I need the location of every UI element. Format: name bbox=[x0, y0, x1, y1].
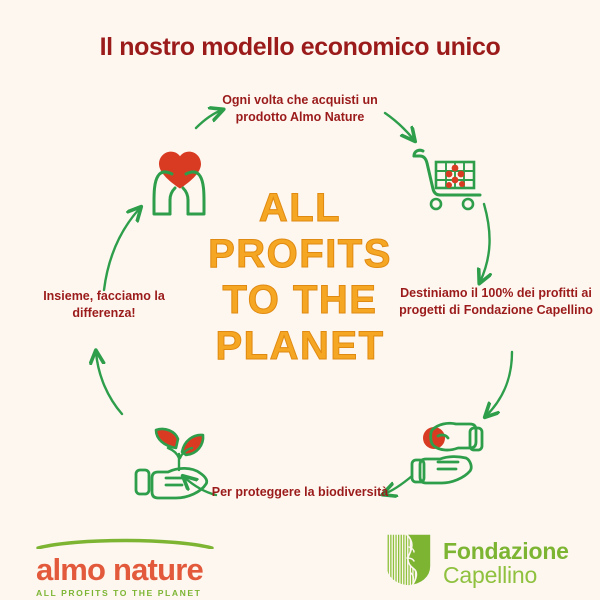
fondazione-capellino-mark-icon bbox=[385, 533, 432, 587]
caption-profits: Destiniamo il 100% dei profitti ai proge… bbox=[398, 285, 594, 318]
fondazione-wordmark-line2: Capellino bbox=[443, 563, 569, 587]
headline-line-1: ALL bbox=[170, 185, 430, 231]
almo-nature-tagline: ALL PROFITS TO THE PLANET bbox=[36, 588, 214, 598]
caption-together: Insieme, facciamo la differenza! bbox=[14, 288, 194, 321]
fondazione-wordmark-line1: Fondazione bbox=[443, 539, 569, 563]
headline-line-3: TO THE bbox=[170, 277, 430, 323]
headline-line-2: PROFITS bbox=[170, 231, 430, 277]
almo-nature-logo: almo nature ALL PROFITS TO THE PLANET bbox=[36, 536, 214, 598]
almo-nature-wordmark: almo nature bbox=[36, 554, 214, 585]
hand-giving-apple-icon bbox=[412, 423, 482, 483]
headline-line-4: PLANET bbox=[170, 323, 430, 369]
infographic-canvas: Il nostro modello economico unico bbox=[0, 0, 600, 600]
fondazione-capellino-logo: Fondazione Capellino bbox=[385, 533, 569, 592]
caption-biodiversity: Per proteggere la biodiversità bbox=[205, 484, 395, 501]
hand-sprout-icon bbox=[136, 429, 207, 498]
center-headline: ALL PROFITS TO THE PLANET bbox=[170, 185, 430, 369]
almo-arc-icon bbox=[36, 538, 214, 549]
caption-purchase: Ogni volta che acquisti un prodotto Almo… bbox=[205, 92, 395, 125]
